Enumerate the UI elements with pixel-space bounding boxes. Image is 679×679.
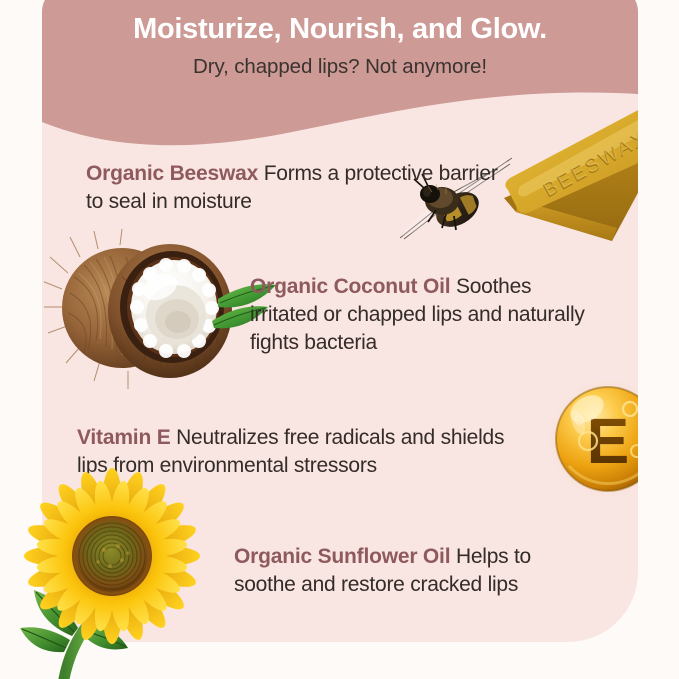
- ingredient-vitamin-e: Vitamin E Neutralizes free radicals and …: [77, 424, 527, 480]
- ingredient-name-beeswax: Organic Beeswax: [86, 162, 258, 185]
- coconut-image: [44, 229, 279, 389]
- ingredient-name-coconut: Organic Coconut Oil: [250, 275, 450, 298]
- ingredient-coconut: Organic Coconut Oil Soothes irritated or…: [250, 273, 586, 357]
- ingredient-name-vitamin-e: Vitamin E: [77, 426, 171, 449]
- ingredient-name-sunflower: Organic Sunflower Oil: [234, 545, 450, 568]
- sunflower-image: [4, 488, 219, 679]
- infographic-canvas: Moisturize, Nourish, and Glow. Dry, chap…: [0, 0, 679, 679]
- vitamin-e-capsule-image: E: [547, 378, 638, 500]
- ingredient-sunflower: Organic Sunflower Oil Helps to soothe an…: [234, 543, 584, 599]
- page-title: Moisturize, Nourish, and Glow.: [42, 13, 638, 46]
- ingredient-beeswax: Organic Beeswax Forms a protective barri…: [86, 160, 506, 216]
- page-subtitle: Dry, chapped lips? Not anymore!: [42, 55, 638, 79]
- header-text-group: Moisturize, Nourish, and Glow. Dry, chap…: [42, 0, 638, 79]
